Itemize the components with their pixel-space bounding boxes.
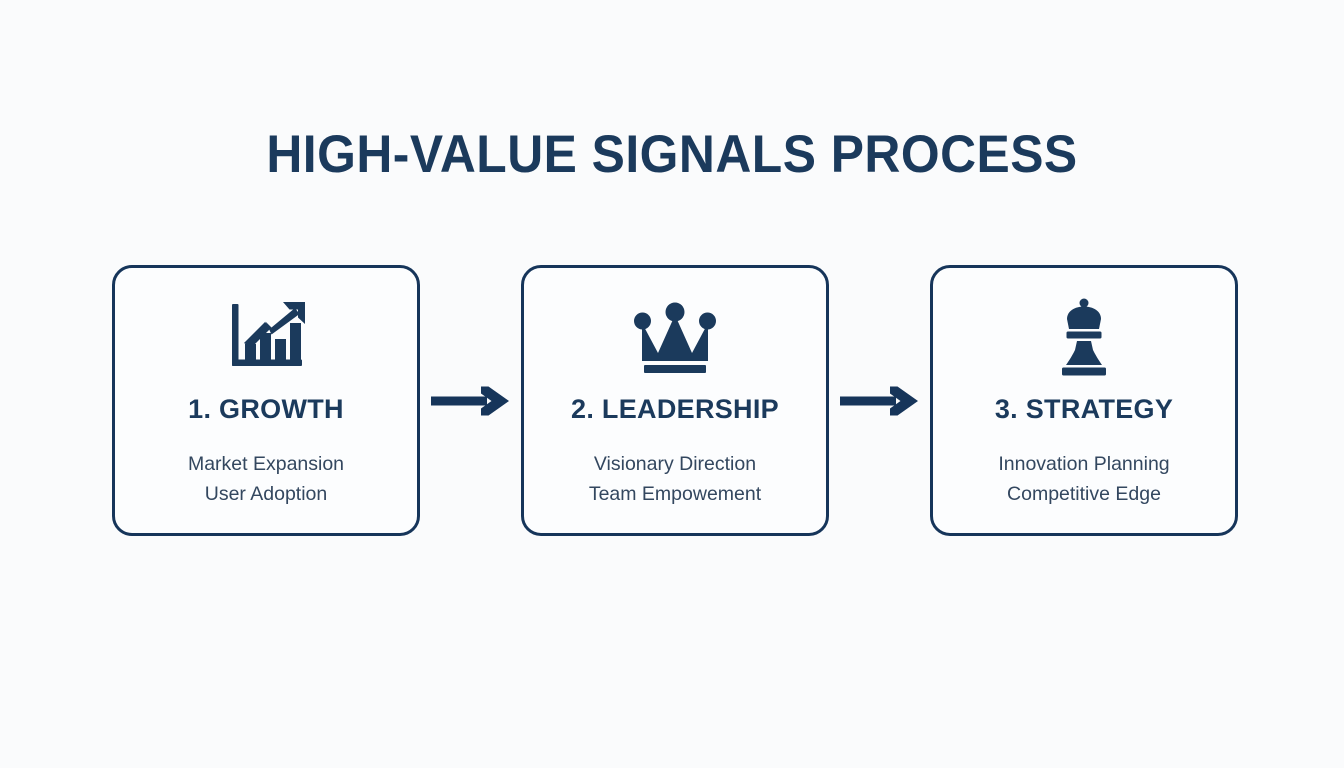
chess-queen-icon: [1054, 294, 1114, 380]
growth-chart-icon: [226, 294, 306, 380]
slide-canvas: HIGH-VALUE SIGNALS PROCESS: [0, 0, 1344, 768]
process-flow: 1. GROWTH Market Expansion User Adoption: [112, 265, 1238, 536]
step-description-line-1: Visionary Direction: [589, 449, 761, 479]
process-step-card-growth[interactable]: 1. GROWTH Market Expansion User Adoption: [112, 265, 420, 536]
arrow-right-icon: [829, 381, 930, 421]
step-description: Market Expansion User Adoption: [188, 449, 344, 510]
step-description-line-2: Competitive Edge: [998, 479, 1169, 509]
crown-icon: [634, 294, 716, 380]
step-description-line-1: Innovation Planning: [998, 449, 1169, 479]
step-description: Visionary Direction Team Empowement: [589, 449, 761, 510]
step-description-line-2: Team Empowement: [589, 479, 761, 509]
step-description: Innovation Planning Competitive Edge: [998, 449, 1169, 510]
step-heading: 2. LEADERSHIP: [571, 394, 779, 425]
step-heading: 1. GROWTH: [188, 394, 344, 425]
step-description-line-2: User Adoption: [188, 479, 344, 509]
step-description-line-1: Market Expansion: [188, 449, 344, 479]
page-title: HIGH-VALUE SIGNALS PROCESS: [40, 126, 1303, 184]
process-step-card-leadership[interactable]: 2. LEADERSHIP Visionary Direction Team E…: [521, 265, 829, 536]
step-heading: 3. STRATEGY: [995, 394, 1173, 425]
process-step-card-strategy[interactable]: 3. STRATEGY Innovation Planning Competit…: [930, 265, 1238, 536]
arrow-right-icon: [420, 381, 521, 421]
